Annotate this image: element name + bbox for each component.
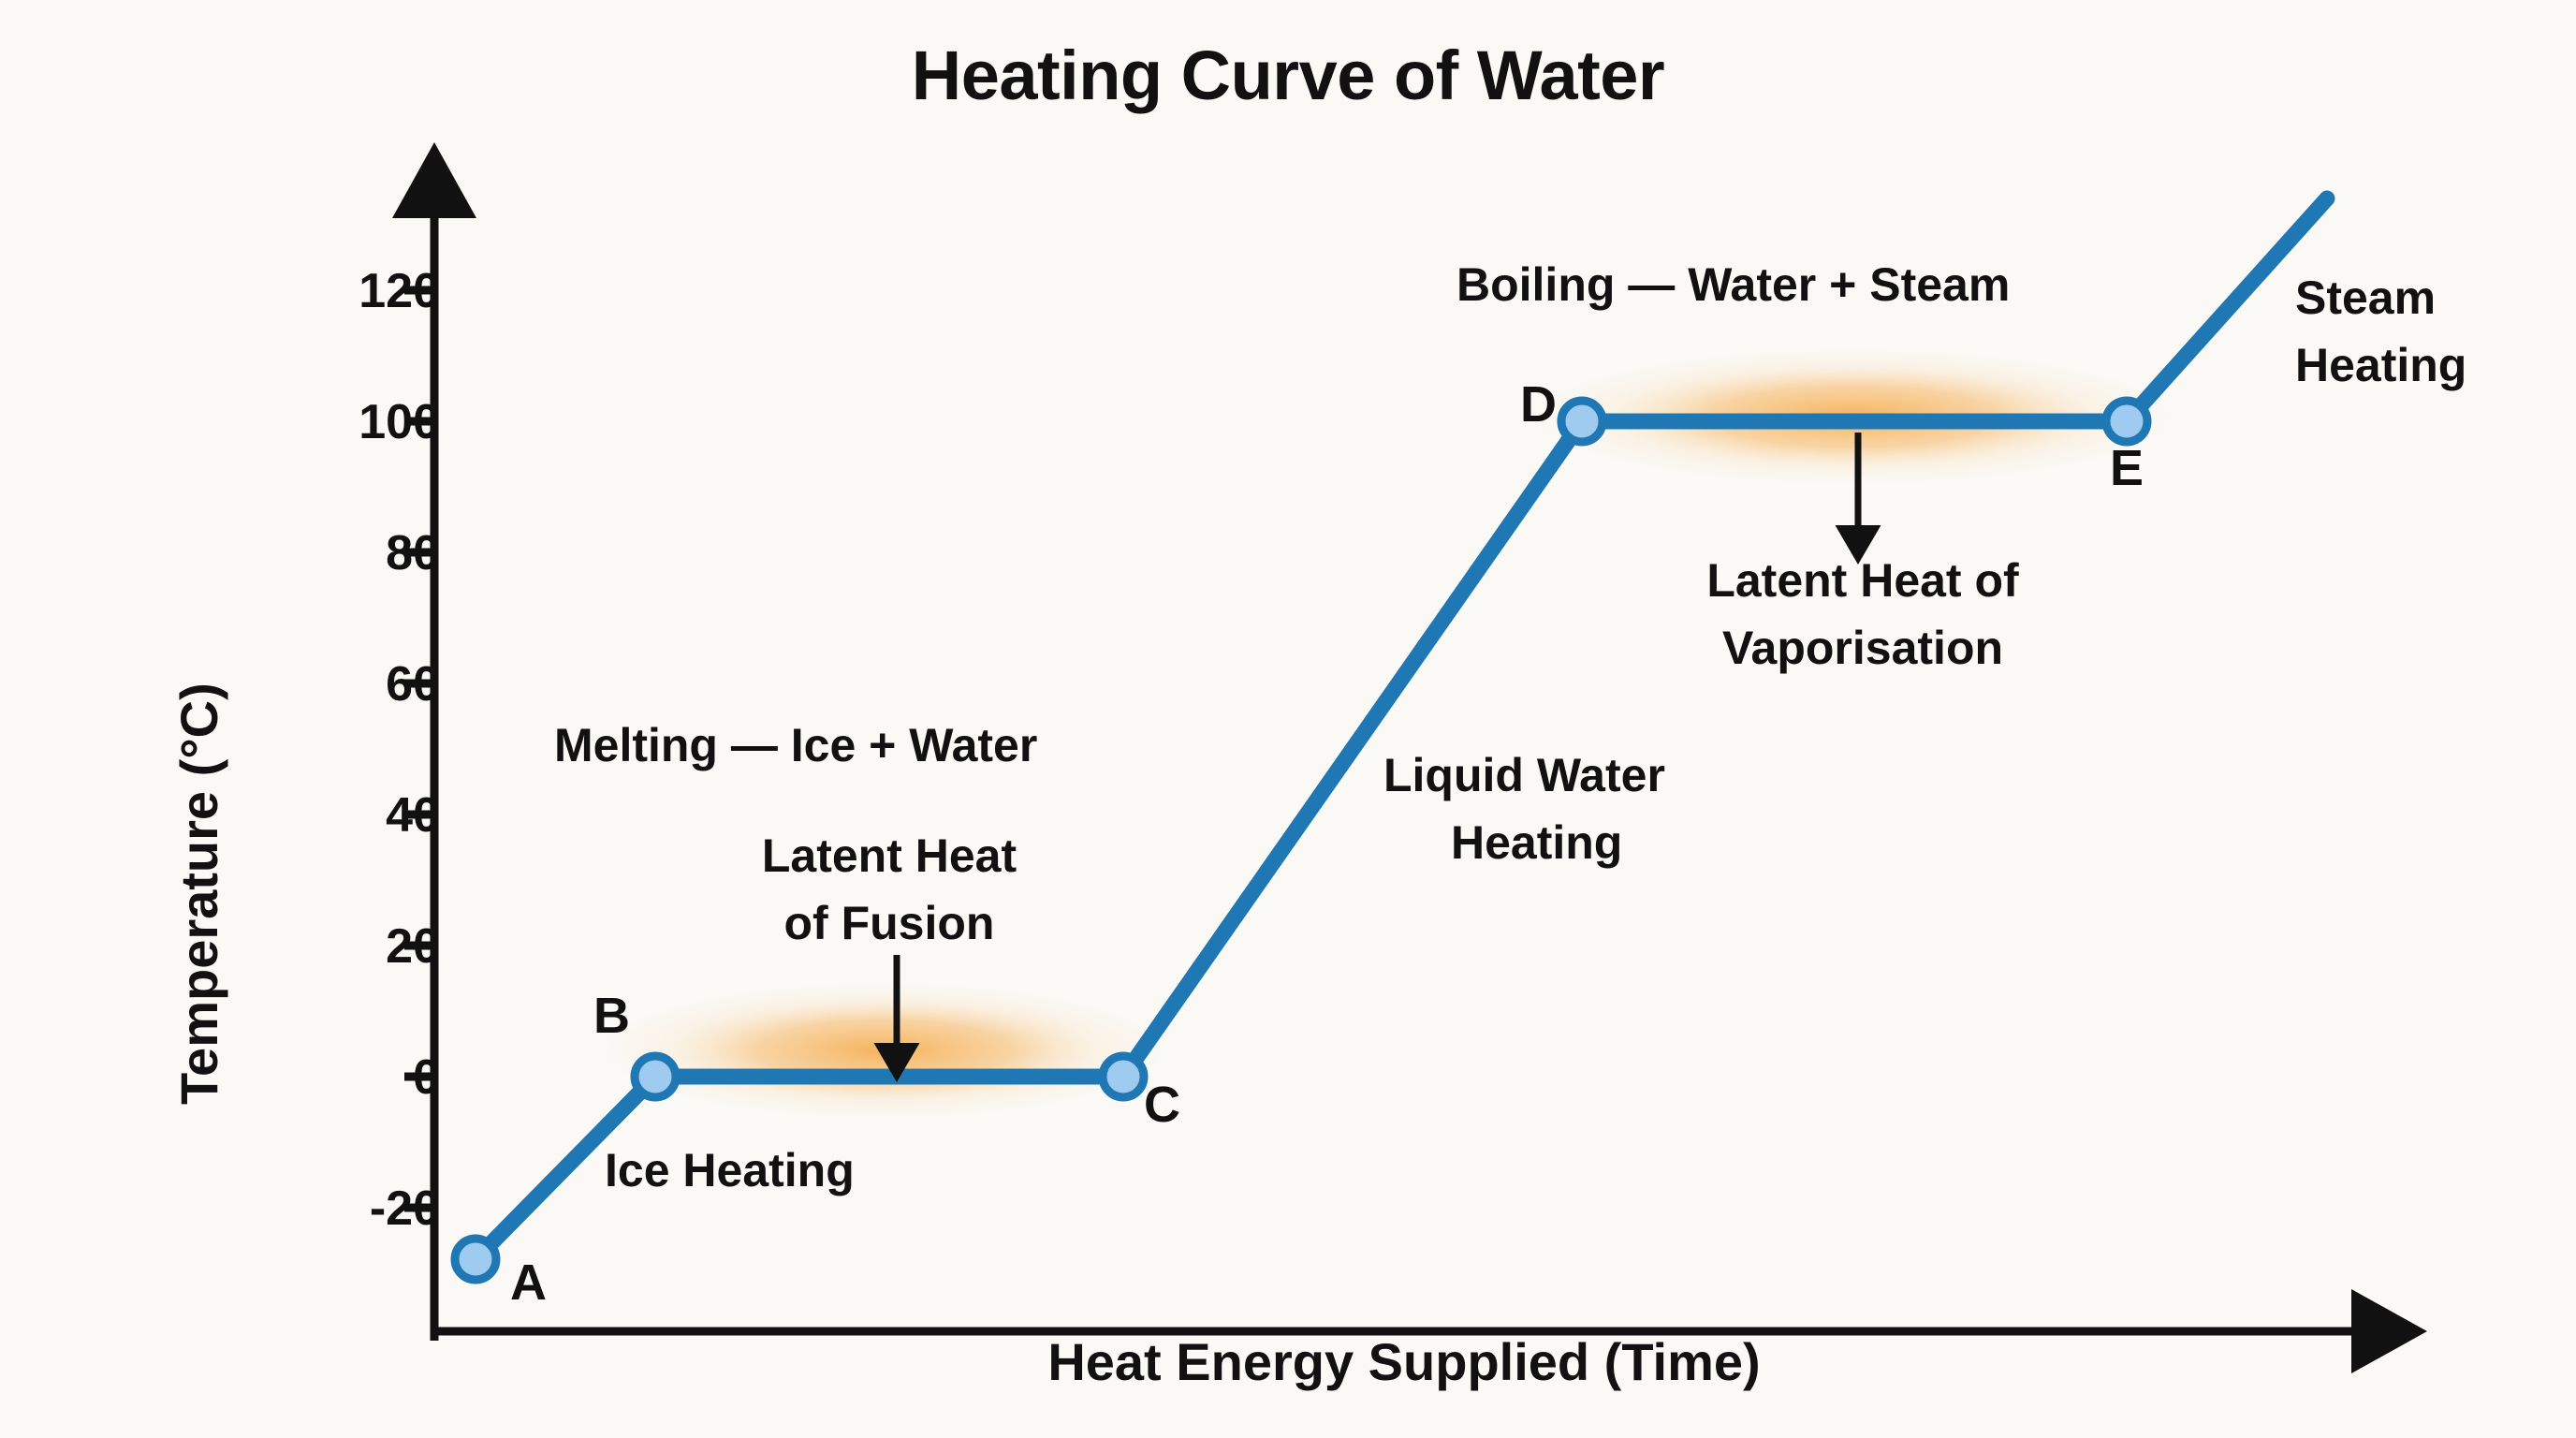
point-label-d: D bbox=[1520, 376, 1557, 433]
data-point-a[interactable] bbox=[455, 1239, 496, 1280]
y-axis-ticks bbox=[404, 290, 434, 1208]
annotation-latent-fusion-line1: Latent Heat bbox=[693, 829, 1086, 882]
data-point-e[interactable] bbox=[2106, 401, 2147, 442]
point-label-a: A bbox=[510, 1255, 547, 1311]
point-label-b: B bbox=[593, 988, 630, 1044]
annotation-liquid-heating-line2: Heating bbox=[1451, 816, 1622, 869]
annotation-liquid-heating-line1: Liquid Water bbox=[1383, 749, 1665, 801]
annotation-melting-heading: Melting — Ice + Water bbox=[554, 719, 1037, 771]
annotation-boiling-heading: Boiling — Water + Steam bbox=[1456, 258, 2010, 311]
data-point-b[interactable] bbox=[635, 1056, 676, 1097]
data-point-c[interactable] bbox=[1103, 1056, 1144, 1097]
data-point-d[interactable] bbox=[1561, 401, 1603, 442]
annotation-steam-heating-line2: Heating bbox=[2295, 339, 2466, 391]
point-label-c: C bbox=[1144, 1077, 1180, 1133]
melting-plateau-glow bbox=[604, 983, 1165, 1118]
annotation-steam-heating-line1: Steam bbox=[2295, 271, 2436, 324]
annotation-latent-vaporisation-line2: Vaporisation bbox=[1629, 622, 2097, 674]
heating-curve-figure: Heating Curve of Water Temperature (°C) … bbox=[0, 0, 2576, 1438]
annotation-ice-heating: Ice Heating bbox=[605, 1144, 855, 1196]
chart-plot-area bbox=[0, 0, 2576, 1438]
annotation-latent-vaporisation-line1: Latent Heat of bbox=[1629, 554, 2097, 607]
annotation-latent-fusion-line2: of Fusion bbox=[693, 897, 1086, 949]
point-label-e: E bbox=[2110, 440, 2144, 496]
